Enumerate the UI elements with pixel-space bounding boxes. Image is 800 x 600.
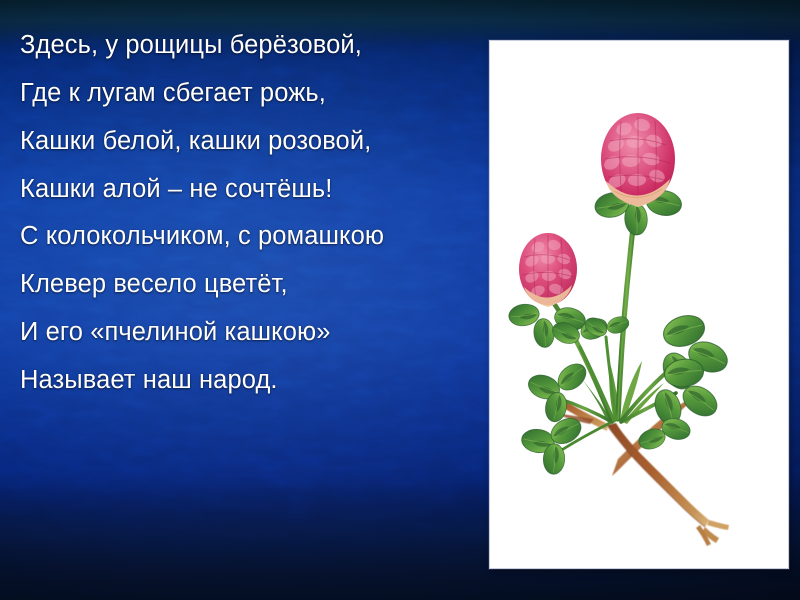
poem-line-5: С колокольчиком, с ромашкою [20, 222, 472, 251]
poem-line-3: Кашки белой, кашки розовой, [20, 126, 472, 156]
clover-flower-secondary [519, 233, 577, 307]
poem-line-6: Клевер весело цветёт, [20, 269, 472, 299]
poem-line-8: Называет наш народ. [20, 365, 472, 395]
poem-line-7: И его «пчелиной кашкою» [20, 317, 472, 347]
clover-image-panel [489, 40, 789, 569]
poem-text-block: Здесь, у рощицы берёзовой, Где к лугам с… [20, 30, 472, 395]
poem-line-2: Где к лугам сбегает рожь, [20, 78, 472, 108]
poem-line-1: Здесь, у рощицы берёзовой, [20, 30, 472, 60]
red-clover-illustration [490, 41, 786, 566]
poem-line-4: Кашки алой – не сочтёшь! [20, 174, 472, 204]
slide-canvas: Здесь, у рощицы берёзовой, Где к лугам с… [0, 0, 800, 600]
